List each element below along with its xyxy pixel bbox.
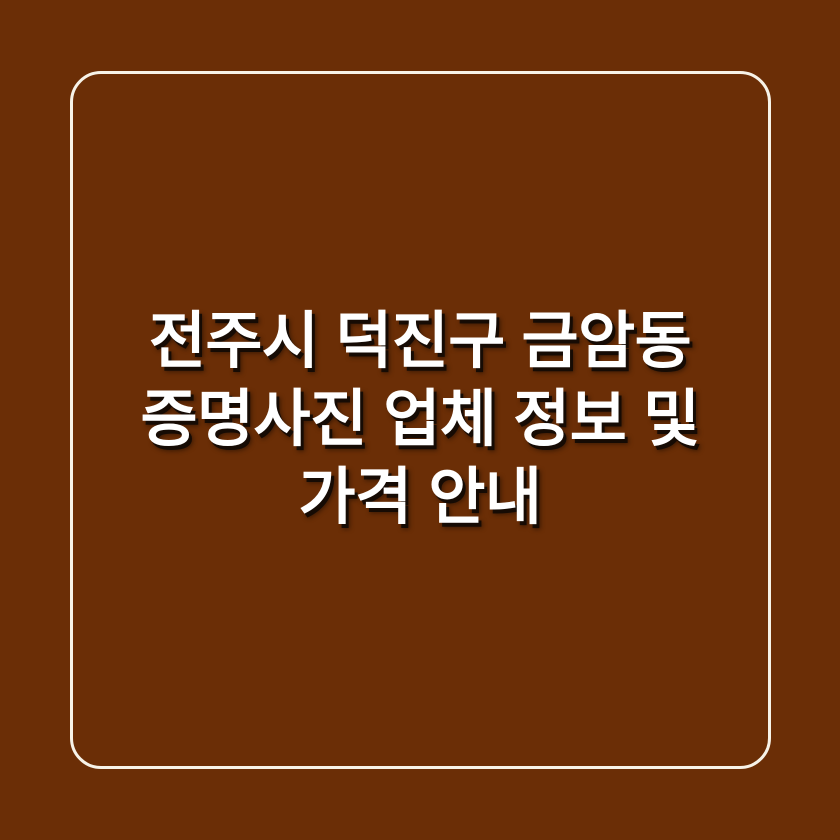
title-block: 전주시 덕진구 금암동 증명사진 업체 정보 및 가격 안내 [0, 0, 840, 840]
page-title-line-2: 증명사진 업체 정보 및 [95, 381, 745, 459]
poster-canvas: 전주시 덕진구 금암동 증명사진 업체 정보 및 가격 안내 [0, 0, 840, 840]
page-title-line-3: 가격 안내 [95, 459, 745, 537]
page-title-line-1: 전주시 덕진구 금암동 [95, 303, 745, 381]
page-title: 전주시 덕진구 금암동 증명사진 업체 정보 및 가격 안내 [95, 303, 745, 537]
